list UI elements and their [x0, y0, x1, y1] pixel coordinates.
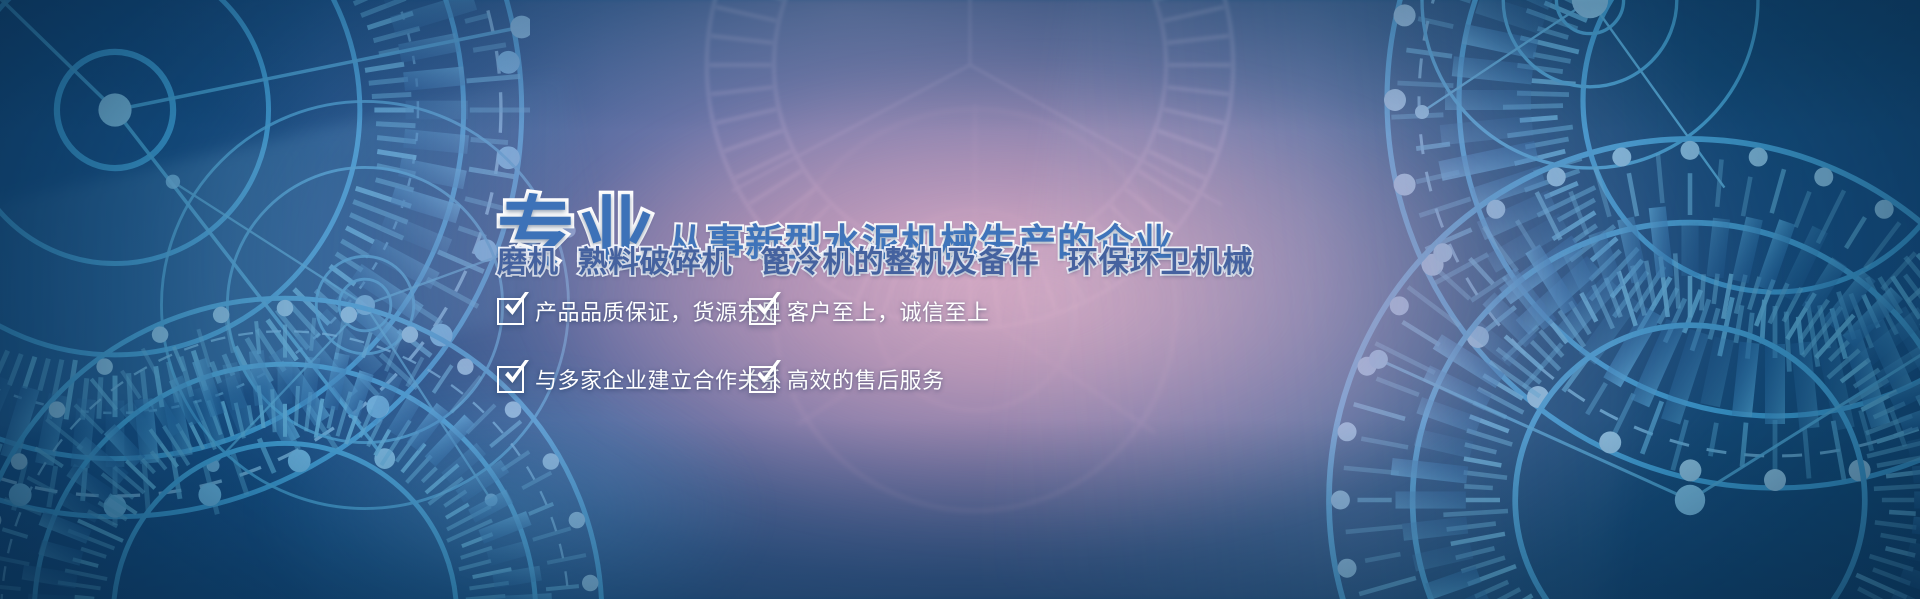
- check-mark-icon: [753, 358, 784, 389]
- feature-list: 产品品质保证，货源充足 客户至上，诚信至上 与多家企业建立合作关系: [497, 287, 990, 403]
- hero-banner: 专业 从事新型水泥机械生产的企业 磨机 熟料破碎机 篦冷机的整机及备件 环保环卫…: [0, 0, 1920, 599]
- feature-label: 产品品质保证，货源充足: [535, 295, 783, 327]
- check-mark-icon: [501, 358, 532, 389]
- checkbox-checked-icon: [497, 366, 524, 393]
- feature-label: 高效的售后服务: [787, 363, 945, 395]
- feature-item-2: 客户至上，诚信至上: [749, 295, 990, 327]
- checkbox-checked-icon: [749, 366, 776, 393]
- check-mark-icon: [501, 290, 532, 321]
- feature-label: 客户至上，诚信至上: [787, 295, 990, 327]
- banner-text-block: 专业 从事新型水泥机械生产的企业 磨机 熟料破碎机 篦冷机的整机及备件 环保环卫…: [0, 0, 1920, 599]
- feature-item-4: 高效的售后服务: [749, 363, 990, 395]
- feature-item-1: 产品品质保证，货源充足: [497, 295, 749, 327]
- check-mark-icon: [753, 290, 784, 321]
- feature-label: 与多家企业建立合作关系: [535, 363, 783, 395]
- feature-item-3: 与多家企业建立合作关系: [497, 363, 749, 395]
- checkbox-checked-icon: [749, 298, 776, 325]
- checkbox-checked-icon: [497, 298, 524, 325]
- product-list-line: 磨机 熟料破碎机 篦冷机的整机及备件 环保环卫机械: [497, 237, 1254, 281]
